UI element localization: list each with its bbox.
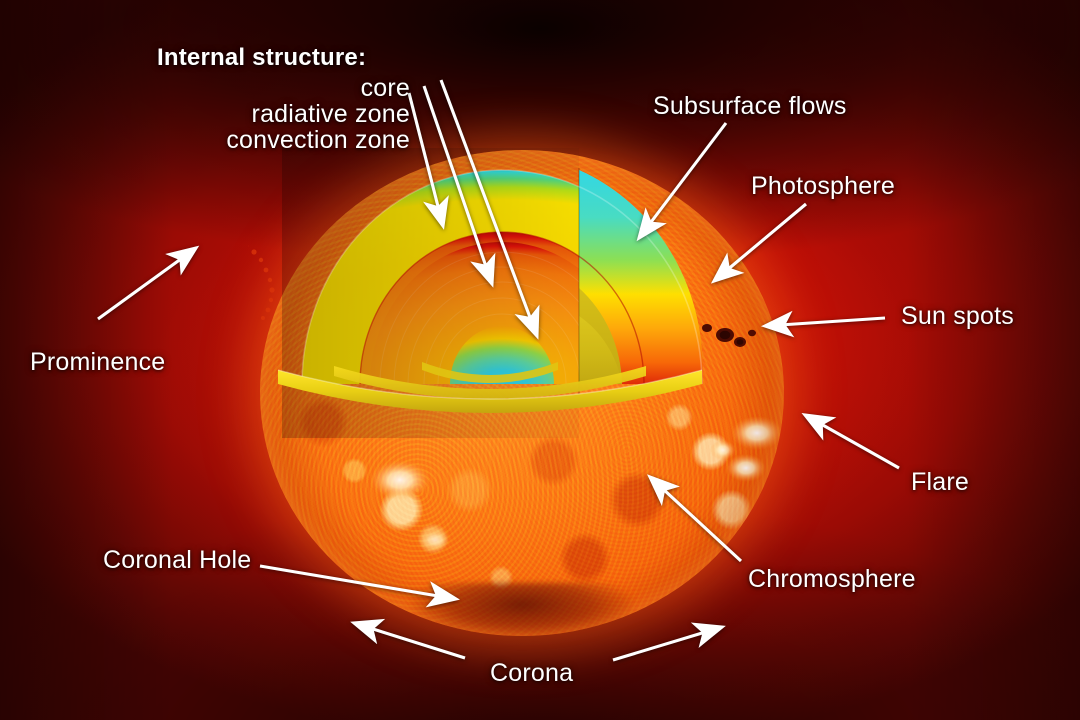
label-corona: Corona bbox=[490, 659, 573, 688]
arrow-sun-spots bbox=[765, 318, 885, 326]
arrow-corona-left bbox=[354, 623, 465, 658]
arrow-radiative-zone bbox=[424, 86, 492, 284]
label-subsurface-flows: Subsurface flows bbox=[653, 92, 847, 121]
label-chromosphere: Chromosphere bbox=[748, 565, 916, 594]
arrow-corona-right bbox=[613, 627, 722, 660]
label-core: core bbox=[170, 74, 410, 103]
sun-structure-diagram: Internal structure: core radiative zone … bbox=[0, 0, 1080, 720]
label-photosphere: Photosphere bbox=[751, 172, 895, 201]
annotation-layer: Internal structure: core radiative zone … bbox=[0, 0, 1080, 720]
arrow-subsurface-flows bbox=[639, 123, 726, 238]
arrow-chromosphere bbox=[650, 477, 741, 561]
label-coronal-hole: Coronal Hole bbox=[103, 546, 251, 575]
arrow-convection-zone bbox=[409, 93, 443, 226]
arrow-prominence bbox=[98, 248, 196, 319]
arrow-flare bbox=[805, 415, 899, 468]
arrow-coronal-hole bbox=[260, 566, 456, 599]
label-convection-zone: convection zone bbox=[170, 126, 410, 155]
arrow-photosphere bbox=[714, 204, 806, 281]
label-prominence: Prominence bbox=[30, 348, 165, 377]
internal-structure-heading: Internal structure: bbox=[157, 44, 366, 72]
label-sun-spots: Sun spots bbox=[901, 302, 1014, 331]
label-flare: Flare bbox=[911, 468, 969, 497]
label-radiative-zone: radiative zone bbox=[170, 100, 410, 129]
arrow-core bbox=[441, 80, 537, 336]
